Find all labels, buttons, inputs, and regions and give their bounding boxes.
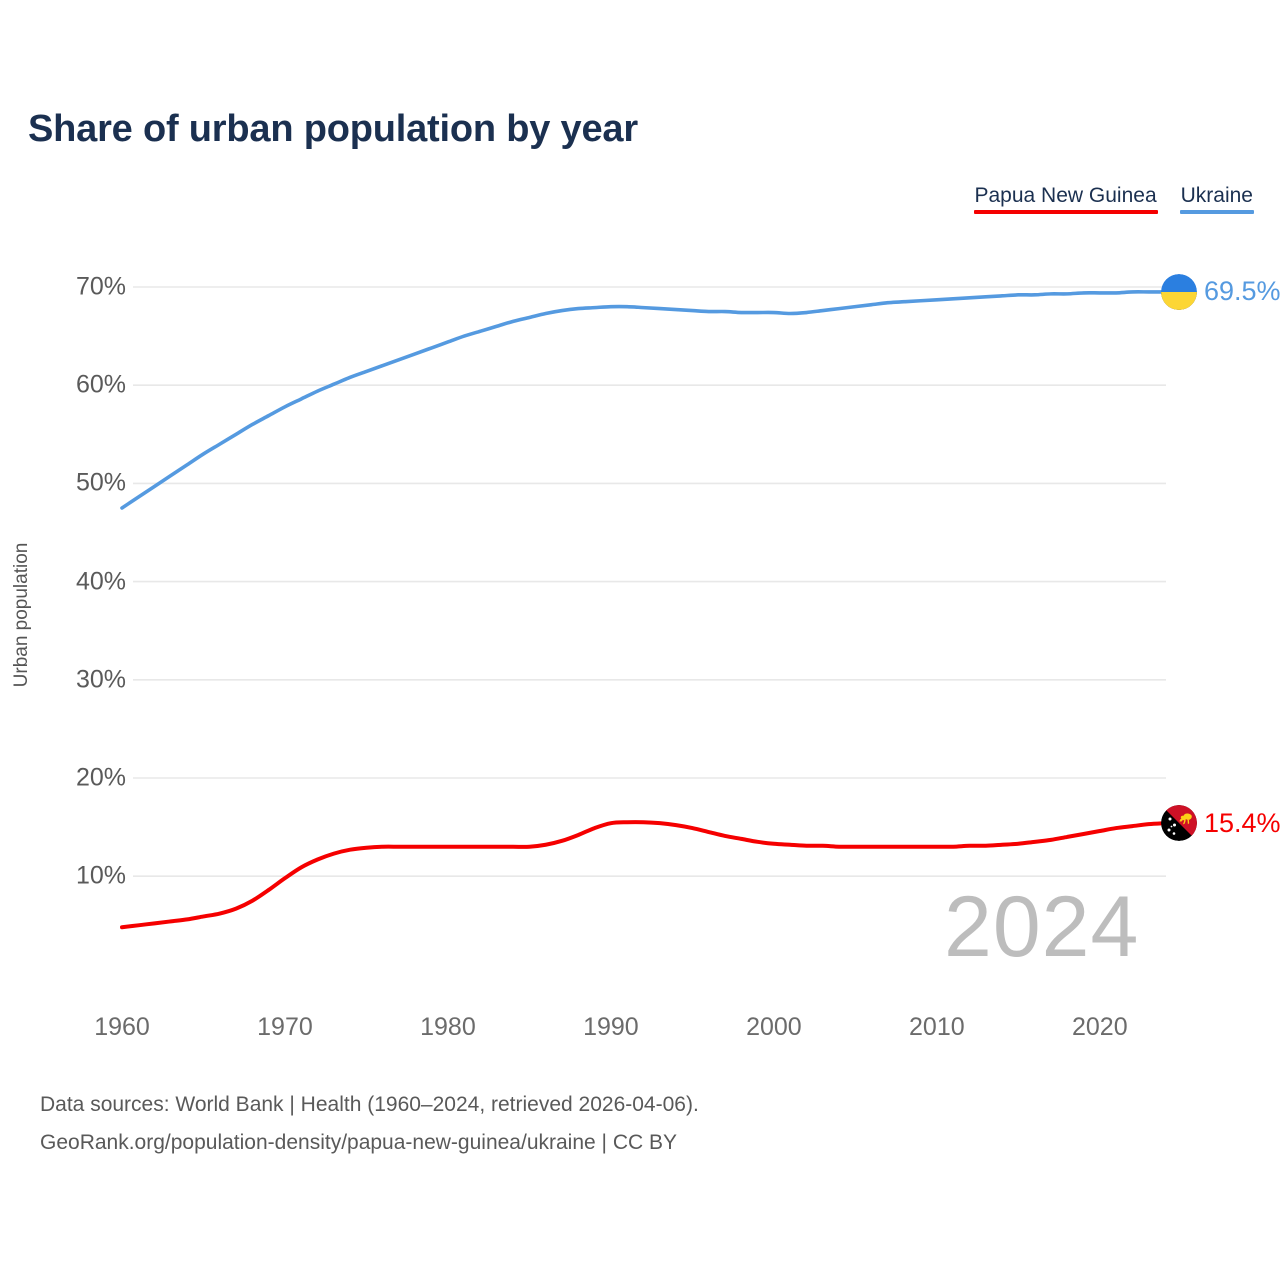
x-axis-tick-label: 1970: [257, 1013, 313, 1042]
x-axis-tick-label: 2010: [909, 1013, 965, 1042]
x-axis-tick-label: 1990: [583, 1013, 639, 1042]
y-axis-tick-label: 20%: [8, 764, 126, 793]
endpoint-ukraine: 69.5%: [1161, 274, 1280, 310]
endpoint-value-ukraine: 69.5%: [1204, 278, 1280, 305]
ukraine-flag-icon: [1161, 274, 1197, 310]
y-axis-tick-label: 50%: [8, 469, 126, 498]
x-axis-tick-label: 2020: [1072, 1013, 1128, 1042]
legend-label-papua-new-guinea: Papua New Guinea: [974, 183, 1158, 208]
footer-data-sources: Data sources: World Bank | Health (1960–…: [40, 1086, 699, 1124]
year-watermark: 2024: [944, 884, 1139, 970]
x-axis-tick-label: 2000: [746, 1013, 802, 1042]
y-axis-label: Urban population: [11, 543, 33, 688]
footer: Data sources: World Bank | Health (1960–…: [40, 1086, 699, 1162]
endpoint-papua-new-guinea: 15.4%: [1161, 805, 1280, 841]
x-axis-tick-label: 1980: [420, 1013, 476, 1042]
endpoint-value-papua-new-guinea: 15.4%: [1204, 810, 1280, 837]
y-axis-tick-label: 60%: [8, 371, 126, 400]
y-axis-tick-label: 70%: [8, 273, 126, 302]
x-axis-tick-label: 1960: [94, 1013, 150, 1042]
legend: Papua New Guinea Ukraine: [974, 183, 1255, 214]
legend-swatch-papua-new-guinea: [974, 210, 1158, 214]
legend-item-ukraine[interactable]: Ukraine: [1180, 183, 1254, 214]
legend-label-ukraine: Ukraine: [1180, 183, 1254, 208]
y-axis-tick-label: 10%: [8, 862, 126, 891]
papua-new-guinea-flag-icon: [1161, 805, 1197, 841]
legend-swatch-ukraine: [1180, 210, 1254, 214]
series-lines: [122, 292, 1165, 927]
legend-item-papua-new-guinea[interactable]: Papua New Guinea: [974, 183, 1158, 214]
series-line-ukraine: [122, 292, 1165, 508]
gridlines: [133, 287, 1166, 876]
footer-attribution: GeoRank.org/population-density/papua-new…: [40, 1124, 699, 1162]
